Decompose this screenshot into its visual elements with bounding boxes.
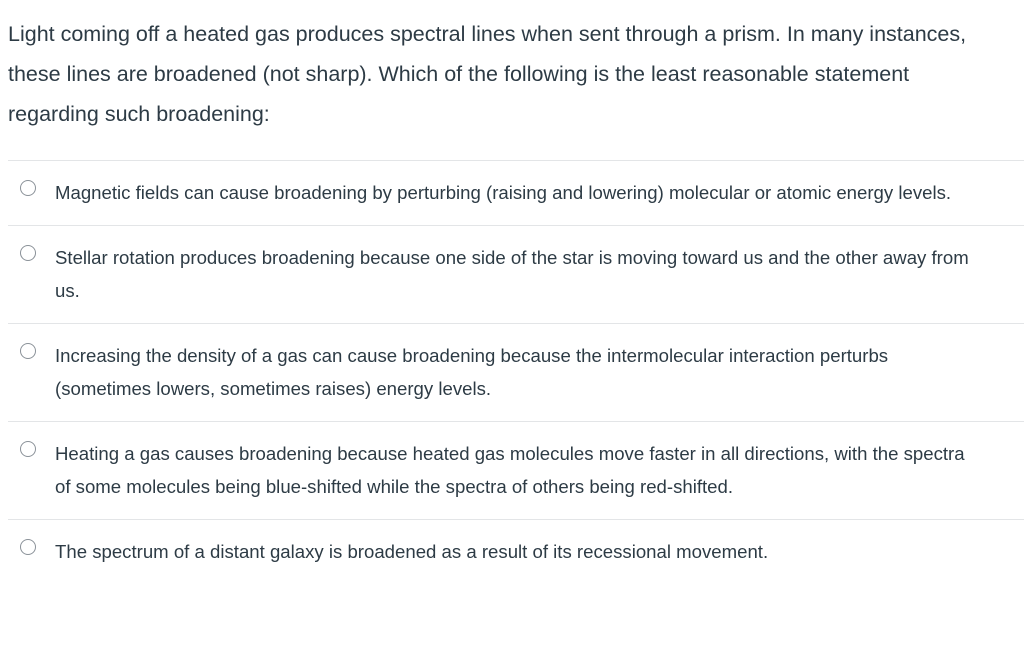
- answer-option-label: Heating a gas causes broadening because …: [55, 437, 1000, 504]
- radio-circle: [20, 539, 36, 555]
- question-stem: Light coming off a heated gas produces s…: [0, 0, 1024, 134]
- answer-option-4[interactable]: Heating a gas causes broadening because …: [0, 422, 1024, 519]
- quiz-question-container: Light coming off a heated gas produces s…: [0, 0, 1024, 670]
- radio-unselected-icon[interactable]: [8, 339, 55, 359]
- answer-option-5[interactable]: The spectrum of a distant galaxy is broa…: [0, 520, 1024, 584]
- radio-circle: [20, 343, 36, 359]
- answer-option-1[interactable]: Magnetic fields can cause broadening by …: [0, 161, 1024, 225]
- radio-unselected-icon[interactable]: [8, 241, 55, 261]
- radio-circle: [20, 180, 36, 196]
- answer-option-2[interactable]: Stellar rotation produces broadening bec…: [0, 226, 1024, 323]
- answer-list: Magnetic fields can cause broadening by …: [0, 160, 1024, 583]
- radio-circle: [20, 245, 36, 261]
- answer-option-label: Increasing the density of a gas can caus…: [55, 339, 1000, 406]
- answer-option-label: Stellar rotation produces broadening bec…: [55, 241, 1000, 308]
- radio-unselected-icon[interactable]: [8, 176, 55, 196]
- answer-option-3[interactable]: Increasing the density of a gas can caus…: [0, 324, 1024, 421]
- answer-option-label: The spectrum of a distant galaxy is broa…: [55, 535, 1000, 569]
- radio-unselected-icon[interactable]: [8, 535, 55, 555]
- answer-option-label: Magnetic fields can cause broadening by …: [55, 176, 1000, 210]
- radio-circle: [20, 441, 36, 457]
- radio-unselected-icon[interactable]: [8, 437, 55, 457]
